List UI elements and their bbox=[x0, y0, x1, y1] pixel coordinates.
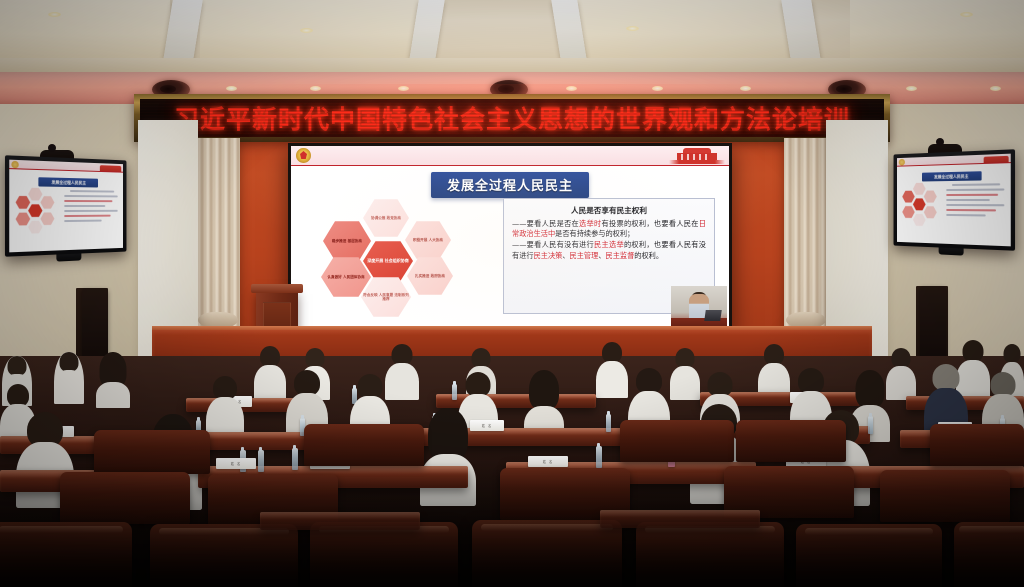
desk-row bbox=[600, 510, 760, 528]
hexagon-cell: 积极开展 人大协商 bbox=[405, 220, 451, 260]
ceiling bbox=[0, 0, 1024, 68]
side-monitor-right-screen: 发展全过程人民民主 bbox=[897, 154, 1011, 247]
presentation-slide: 发展全过程人民民主 协调公推 政党协商 稳步推进 基层协商 积极开展 人大协商 … bbox=[291, 146, 729, 332]
water-bottle bbox=[868, 416, 873, 434]
foreground-chair bbox=[150, 524, 298, 587]
hexagon-cell-core: 深度开展 社会组织协商 bbox=[363, 240, 413, 282]
wall-speaker-left bbox=[82, 288, 108, 362]
national-emblem-icon bbox=[11, 161, 18, 169]
slide-text-lines bbox=[64, 190, 118, 225]
foreground-chair bbox=[0, 522, 132, 587]
hexagon-cell: 扎实推进 政府协商 bbox=[407, 256, 453, 296]
tiananmen-graphic bbox=[984, 156, 1009, 163]
ceiling-downlight bbox=[652, 86, 663, 91]
chair bbox=[620, 420, 734, 462]
attendee bbox=[420, 408, 476, 506]
stage-curtain-right bbox=[784, 138, 828, 356]
chair bbox=[60, 472, 190, 524]
attendee bbox=[254, 346, 286, 400]
laptop-icon bbox=[704, 310, 722, 321]
national-emblem-icon bbox=[296, 148, 311, 163]
ceiling-downlight bbox=[566, 86, 577, 91]
ceiling-downlight bbox=[398, 86, 409, 91]
ceiling-downlight bbox=[626, 26, 639, 31]
national-emblem-icon bbox=[899, 159, 905, 166]
hexagon-cluster-mini bbox=[16, 187, 63, 235]
side-monitor-right: 发展全过程人民民主 bbox=[894, 149, 1015, 251]
water-bottle bbox=[292, 448, 298, 470]
attendee bbox=[385, 344, 419, 400]
monitor-stand bbox=[56, 253, 81, 261]
chair bbox=[880, 470, 1010, 522]
ceiling-downlight bbox=[906, 86, 917, 91]
side-monitor-left: 发展全过程人民民主 bbox=[5, 155, 126, 257]
slide-title-container: 发展全过程人民民主 bbox=[291, 172, 729, 198]
ceiling-downlight bbox=[740, 86, 751, 91]
hexagon-cell: 认真做好 人民团体协商 bbox=[321, 256, 371, 298]
attendee bbox=[54, 352, 84, 404]
ceiling-downlight bbox=[990, 86, 1001, 91]
slide-text-lines bbox=[946, 183, 1004, 220]
led-banner-text: 习近平新时代中国特色社会主义思想的世界观和方法论培训 bbox=[174, 100, 850, 136]
chair bbox=[94, 430, 210, 474]
ceiling-downlight bbox=[226, 86, 237, 91]
slide-title: 发展全过程人民民主 bbox=[431, 172, 589, 198]
chair bbox=[736, 420, 846, 462]
wall-speaker-right bbox=[920, 286, 946, 360]
foreground-chair bbox=[310, 522, 458, 587]
ceiling-downlight bbox=[48, 12, 61, 17]
quote-paragraph-1: ——要看人民是否在选举时有投票的权利，也要看人民在日常政治生活中是否有持续参与的… bbox=[512, 219, 706, 241]
tiananmen-graphic bbox=[100, 165, 121, 172]
attendee bbox=[886, 348, 916, 400]
hexagon-cluster-mini bbox=[902, 182, 944, 228]
quote-paragraph-2: ——要看人民有没有进行民主选举的权利，也要看人民有没有进行民主决策、民主管理、民… bbox=[512, 240, 706, 262]
foreground-chair bbox=[796, 524, 942, 587]
chair bbox=[304, 424, 424, 466]
name-card: 姓 名 bbox=[470, 420, 504, 431]
foreground-chair bbox=[472, 520, 622, 587]
water-bottle bbox=[606, 414, 611, 432]
hexagon-cluster: 协调公推 政党协商 稳步推进 基层协商 积极开展 人大协商 深度开展 社会组织协… bbox=[311, 198, 479, 318]
foreground-chair bbox=[954, 522, 1024, 587]
monitor-stand bbox=[939, 247, 964, 255]
stage-curtain-left bbox=[196, 138, 240, 356]
tiananmen-graphic bbox=[669, 148, 725, 164]
attendee bbox=[596, 342, 628, 398]
water-bottle bbox=[596, 446, 602, 468]
ceiling-downlight bbox=[310, 86, 321, 91]
name-card: 姓 名 bbox=[528, 456, 568, 467]
led-banner-screen: 习近平新时代中国特色社会主义思想的世界观和方法论培训 bbox=[140, 99, 884, 137]
main-projection-screen: 发展全过程人民民主 协调公推 政党协商 稳步推进 基层协商 积极开展 人大协商 … bbox=[288, 143, 732, 335]
side-monitor-left-title: 发展全过程人民民主 bbox=[38, 177, 98, 187]
slide-header bbox=[291, 146, 729, 166]
attendee bbox=[670, 348, 700, 400]
led-banner-frame: 习近平新时代中国特色社会主义思想的世界观和方法论培训 bbox=[134, 94, 890, 142]
remote-speaker-video bbox=[671, 286, 727, 330]
foreground-chair bbox=[636, 522, 784, 587]
ceiling-downlight bbox=[300, 28, 313, 33]
water-bottle bbox=[258, 450, 264, 472]
hexagon-cell: 稳步推进 基层协商 bbox=[323, 220, 371, 262]
conference-hall-scene: 习近平新时代中国特色社会主义思想的世界观和方法论培训 发展全过程人民民主 bbox=[0, 0, 1024, 587]
side-monitor-left-screen: 发展全过程人民民主 bbox=[9, 160, 123, 253]
attendee bbox=[96, 352, 130, 408]
chair bbox=[930, 424, 1024, 466]
name-card: 姓 名 bbox=[216, 458, 256, 469]
quote-heading: 人民是否享有民主权利 bbox=[512, 205, 706, 217]
hexagon-cell: 协调公推 政党协商 bbox=[363, 198, 409, 238]
side-monitor-right-title: 发展全过程人民民主 bbox=[922, 171, 982, 181]
water-bottle bbox=[452, 384, 457, 400]
ceiling-downlight bbox=[960, 12, 973, 17]
hexagon-cell: 符合反映 人民意愿 法制系列推荐 bbox=[361, 276, 411, 318]
desk-row bbox=[260, 512, 420, 530]
